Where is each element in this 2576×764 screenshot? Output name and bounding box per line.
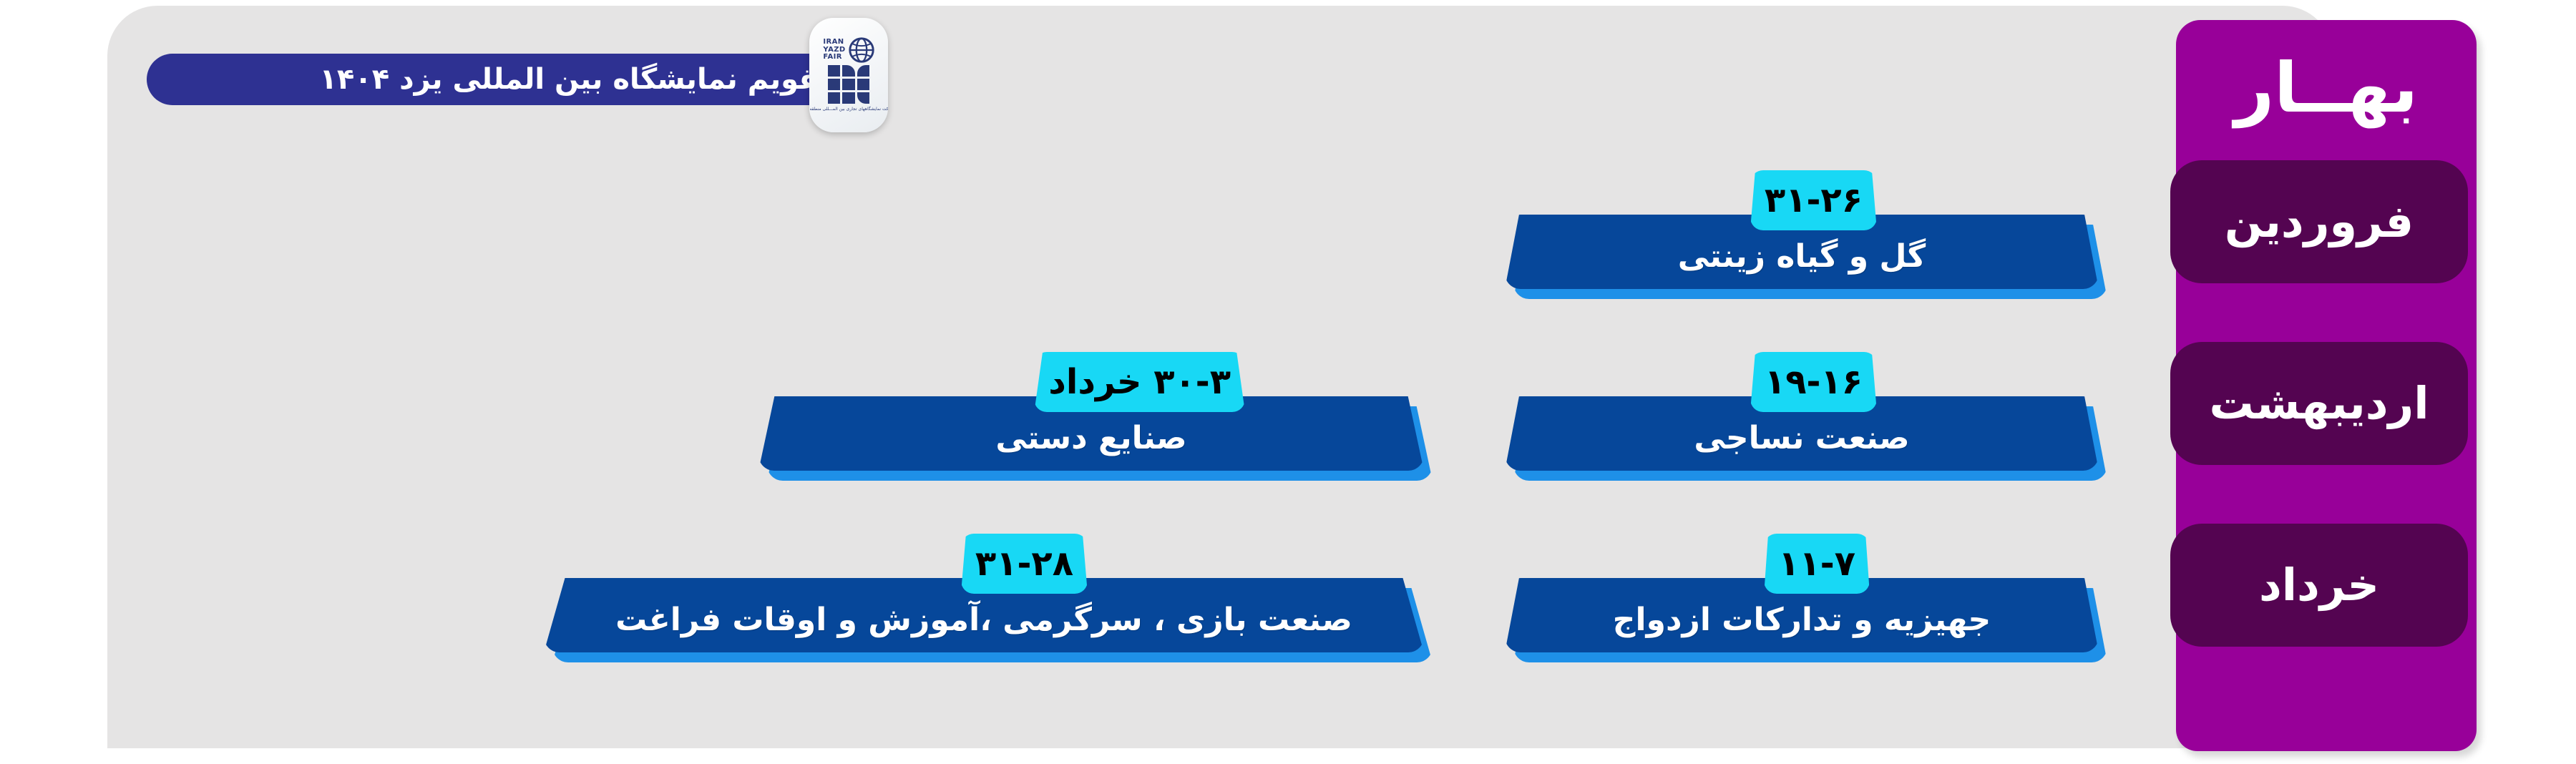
event-card[interactable]: گل و گیاه زینتی ۳۱-۲۶ <box>1505 215 2099 289</box>
page-title: تقویم نمایشگاه بین المللی یزد ۱۴۰۴ <box>320 65 830 94</box>
logo-cell <box>842 65 854 77</box>
event-card[interactable]: صنعت بازی ، سرگرمی ،آموزش و اوقات فراغت … <box>544 578 1424 652</box>
logo-grid-mark <box>828 65 869 104</box>
month-pill-farvardin[interactable]: فروردین <box>2170 160 2468 283</box>
logo-cell <box>857 65 869 77</box>
title-banner: تقویم نمایشگاه بین المللی یزد ۱۴۰۴ <box>147 54 859 105</box>
event-date-badge: ۳۰-۳ خرداد <box>1034 352 1245 412</box>
event-card[interactable]: جهیزیه و تدارکات ازدواج ۱۱-۷ <box>1505 578 2099 652</box>
season-column-spring: بهــار فروردین اردیبهشت خرداد <box>2176 20 2477 751</box>
logo-cell <box>828 92 840 104</box>
logo-top-row: IRAN YAZD FAIR <box>823 37 874 63</box>
yazd-fair-logo: IRAN YAZD FAIR شرکت نمایشگاههای تجاری بی… <box>809 18 888 132</box>
month-pill-khordad[interactable]: خرداد <box>2170 524 2468 647</box>
month-pill-ordibehesht[interactable]: اردیبهشت <box>2170 342 2468 465</box>
logo-cell <box>857 92 869 104</box>
logo-cell <box>842 79 854 90</box>
event-date-badge: ۱۹-۱۶ <box>1750 352 1877 412</box>
event-date-badge: ۱۱-۷ <box>1764 534 1870 594</box>
event-date-badge: ۳۱-۲۶ <box>1750 170 1877 230</box>
event-card[interactable]: صنعت نساجی ۱۹-۱۶ <box>1505 396 2099 471</box>
logo-cell <box>857 79 869 90</box>
logo-cell <box>828 79 840 90</box>
logo-cell <box>842 92 854 104</box>
event-card[interactable]: صنایع دستی ۳۰-۳ خرداد <box>758 396 1424 471</box>
globe-icon <box>849 37 874 63</box>
logo-caption: شرکت نمایشگاههای تجاری بین المـــللی منط… <box>809 107 888 112</box>
poster-canvas: تقویم نمایشگاه بین المللی یزد ۱۴۰۴ IRAN … <box>0 0 2576 764</box>
season-title: بهــار <box>2176 24 2477 152</box>
logo-wordmark: IRAN YAZD FAIR <box>823 37 845 61</box>
event-date-badge: ۳۱-۲۸ <box>961 534 1088 594</box>
logo-cell <box>828 65 840 77</box>
logo-word-line3: FAIR <box>823 54 845 61</box>
